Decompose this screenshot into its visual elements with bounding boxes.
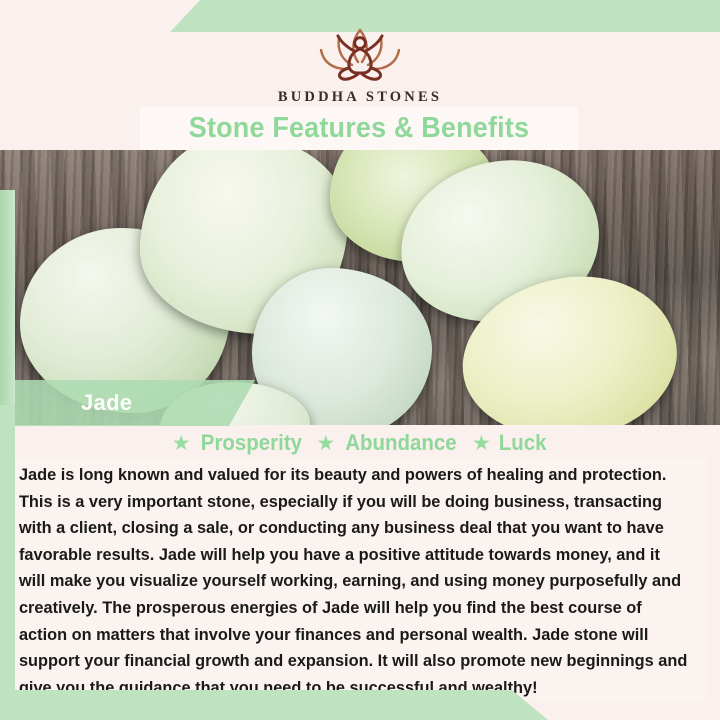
left-green-gradient-accent — [0, 190, 15, 405]
lotus-meditation-figure-icon — [295, 18, 425, 86]
page-title: Stone Features & Benefits — [189, 112, 529, 145]
keyword-prosperity: ★ Prosperity — [172, 430, 306, 456]
keyword-label: Prosperity — [200, 430, 301, 456]
stone-features-infographic: BUDDHA STONES Stone Features & Benefits … — [0, 0, 720, 720]
keyword-label: Luck — [499, 430, 547, 456]
stone-name-banner: Jade — [15, 380, 255, 426]
star-icon: ★ — [172, 433, 191, 454]
star-icon: ★ — [316, 433, 335, 454]
brand-logo: BUDDHA STONES — [0, 18, 720, 106]
brand-name: BUDDHA STONES — [0, 89, 720, 106]
stone-name-label: Jade — [81, 390, 132, 416]
keyword-row: ★ Prosperity ★ Abundance ★ Luck — [0, 430, 720, 456]
description-text: Jade is long known and valued for its be… — [15, 462, 697, 701]
description-block: Jade is long known and valued for its be… — [15, 458, 707, 701]
keyword-luck: ★ Luck — [472, 430, 548, 456]
star-icon: ★ — [472, 433, 491, 454]
keyword-abundance: ★ Abundance — [316, 430, 461, 456]
keyword-label: Abundance — [345, 430, 456, 456]
title-banner: Stone Features & Benefits — [140, 106, 578, 150]
